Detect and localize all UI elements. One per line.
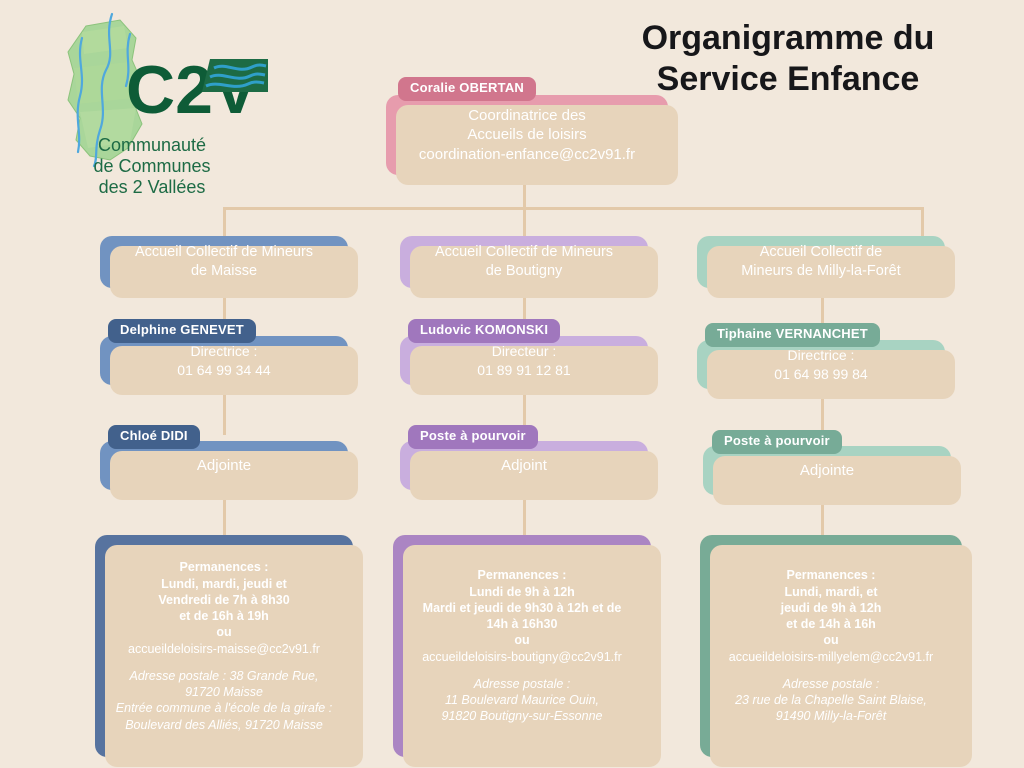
info-milly-address-1: Adresse postale : (729, 676, 933, 692)
unit-card-milly[interactable]: Accueil Collectif de Mineurs de Milly-la… (697, 236, 945, 288)
director-name-tag-boutigny: Ludovic KOMONSKI (408, 319, 560, 343)
info-maisse-address-3: Entrée commune à l'école de la girafe : (116, 700, 332, 716)
page-title-line-2: Service Enfance (578, 59, 998, 100)
info-maisse-heading: Permanences : (116, 559, 332, 575)
coordinator-card[interactable]: Coordinatrice des Accueils de loisirs co… (386, 95, 668, 175)
director-name-tag-milly: Tiphaine VERNANCHET (705, 323, 880, 347)
coordinator-role-line-1: Coordinatrice des (419, 106, 635, 126)
coordinator-name-tag: Coralie OBERTAN (398, 77, 536, 101)
info-card-milly[interactable]: Permanences : Lundi, mardi, et jeudi de … (700, 535, 962, 757)
info-milly-schedule-2: jeudi de 9h à 12h (729, 600, 933, 616)
director-boutigny-phone: 01 89 91 12 81 (477, 361, 570, 379)
unit-maisse-line-2: de Maisse (135, 262, 313, 281)
connector-branch-milly (921, 207, 924, 237)
info-boutigny-address-3: 91820 Boutigny-sur-Essonne (422, 708, 622, 724)
info-boutigny-schedule-3: 14h à 16h30 (422, 616, 622, 632)
deputy-name-tag-boutigny: Poste à pourvoir (408, 425, 538, 449)
organigramme-canvas: C2V Communauté de Communes des 2 Vallées… (0, 0, 1024, 768)
director-maisse-phone: 01 64 99 34 44 (177, 361, 270, 379)
unit-boutigny-line-1: Accueil Collectif de Mineurs (435, 243, 613, 262)
info-boutigny-gap (422, 665, 622, 676)
info-milly-email[interactable]: accueildeloisirs-millyelem@cc2v91.fr (729, 649, 933, 665)
info-milly-or: ou (729, 632, 933, 648)
info-milly-address-3: 91490 Milly-la-Forêt (729, 708, 933, 724)
info-maisse-address-4: Boulevard des Alliés, 91720 Maisse (116, 717, 332, 733)
logo-subtitle-1: Communauté (98, 135, 206, 155)
info-maisse-schedule-2: Vendredi de 7h à 8h30 (116, 592, 332, 608)
unit-boutigny-line-2: de Boutigny (435, 262, 613, 281)
info-milly-address-2: 23 rue de la Chapelle Saint Blaise, (729, 692, 933, 708)
info-boutigny-schedule-2: Mardi et jeudi de 9h30 à 12h et de (422, 600, 622, 616)
deputy-maisse-role: Adjointe (197, 456, 251, 476)
info-maisse-gap (116, 657, 332, 668)
logo-wave-banner (202, 59, 268, 92)
deputy-boutigny-role: Adjoint (501, 456, 547, 476)
info-maisse-schedule-1: Lundi, mardi, jeudi et (116, 576, 332, 592)
director-card-boutigny[interactable]: Directeur : 01 89 91 12 81 (400, 336, 648, 385)
director-maisse-role: Directrice : (177, 342, 270, 360)
info-boutigny-email[interactable]: accueildeloisirs-boutigny@cc2v91.fr (422, 649, 622, 665)
connector-branch-maisse (223, 207, 226, 237)
logo-subtitle-3: des 2 Vallées (99, 177, 206, 197)
deputy-name-tag-maisse: Chloé DIDI (108, 425, 200, 449)
logo-subtitle-2: de Communes (93, 156, 210, 176)
coordinator-email[interactable]: coordination-enfance@cc2v91.fr (419, 145, 635, 165)
unit-milly-line-1: Accueil Collectif de (741, 243, 901, 262)
page-title-line-1: Organigramme du (578, 18, 998, 59)
deputy-milly-role: Adjointe (800, 461, 854, 481)
director-boutigny-role: Directeur : (477, 342, 570, 360)
info-boutigny-address-2: 11 Boulevard Maurice Ouin, (422, 692, 622, 708)
info-boutigny-schedule-1: Lundi de 9h à 12h (422, 584, 622, 600)
info-maisse-address-1: Adresse postale : 38 Grande Rue, (116, 668, 332, 684)
director-card-maisse[interactable]: Directrice : 01 64 99 34 44 (100, 336, 348, 385)
info-boutigny-heading: Permanences : (422, 567, 622, 583)
info-milly-schedule-1: Lundi, mardi, et (729, 584, 933, 600)
connector-horizontal-bus (224, 207, 924, 210)
unit-card-maisse[interactable]: Accueil Collectif de Mineurs de Maisse (100, 236, 348, 288)
director-card-milly[interactable]: Directrice : 01 64 98 99 84 (697, 340, 945, 389)
info-maisse-or: ou (116, 624, 332, 640)
info-maisse-address-2: 91720 Maisse (116, 684, 332, 700)
info-card-boutigny[interactable]: Permanences : Lundi de 9h à 12h Mardi et… (393, 535, 651, 757)
director-milly-phone: 01 64 98 99 84 (774, 365, 867, 383)
unit-maisse-line-1: Accueil Collectif de Mineurs (135, 243, 313, 262)
info-milly-heading: Permanences : (729, 567, 933, 583)
info-boutigny-or: ou (422, 632, 622, 648)
unit-milly-line-2: Mineurs de Milly-la-Forêt (741, 262, 901, 281)
info-boutigny-address-1: Adresse postale : (422, 676, 622, 692)
info-maisse-email[interactable]: accueildeloisirs-maisse@cc2v91.fr (116, 641, 332, 657)
info-milly-gap (729, 665, 933, 676)
director-name-tag-maisse: Delphine GENEVET (108, 319, 256, 343)
unit-card-boutigny[interactable]: Accueil Collectif de Mineurs de Boutigny (400, 236, 648, 288)
director-milly-role: Directrice : (774, 346, 867, 364)
deputy-name-tag-milly: Poste à pourvoir (712, 430, 842, 454)
connector-branch-boutigny (523, 207, 526, 237)
page-title: Organigramme du Service Enfance (578, 18, 998, 101)
c2v-logo: C2V Communauté de Communes des 2 Vallées (24, 8, 274, 203)
info-maisse-schedule-3: et de 16h à 19h (116, 608, 332, 624)
info-card-maisse[interactable]: Permanences : Lundi, mardi, jeudi et Ven… (95, 535, 353, 757)
info-milly-schedule-3: et de 14h à 16h (729, 616, 933, 632)
coordinator-role-line-2: Accueils de loisirs (419, 125, 635, 145)
